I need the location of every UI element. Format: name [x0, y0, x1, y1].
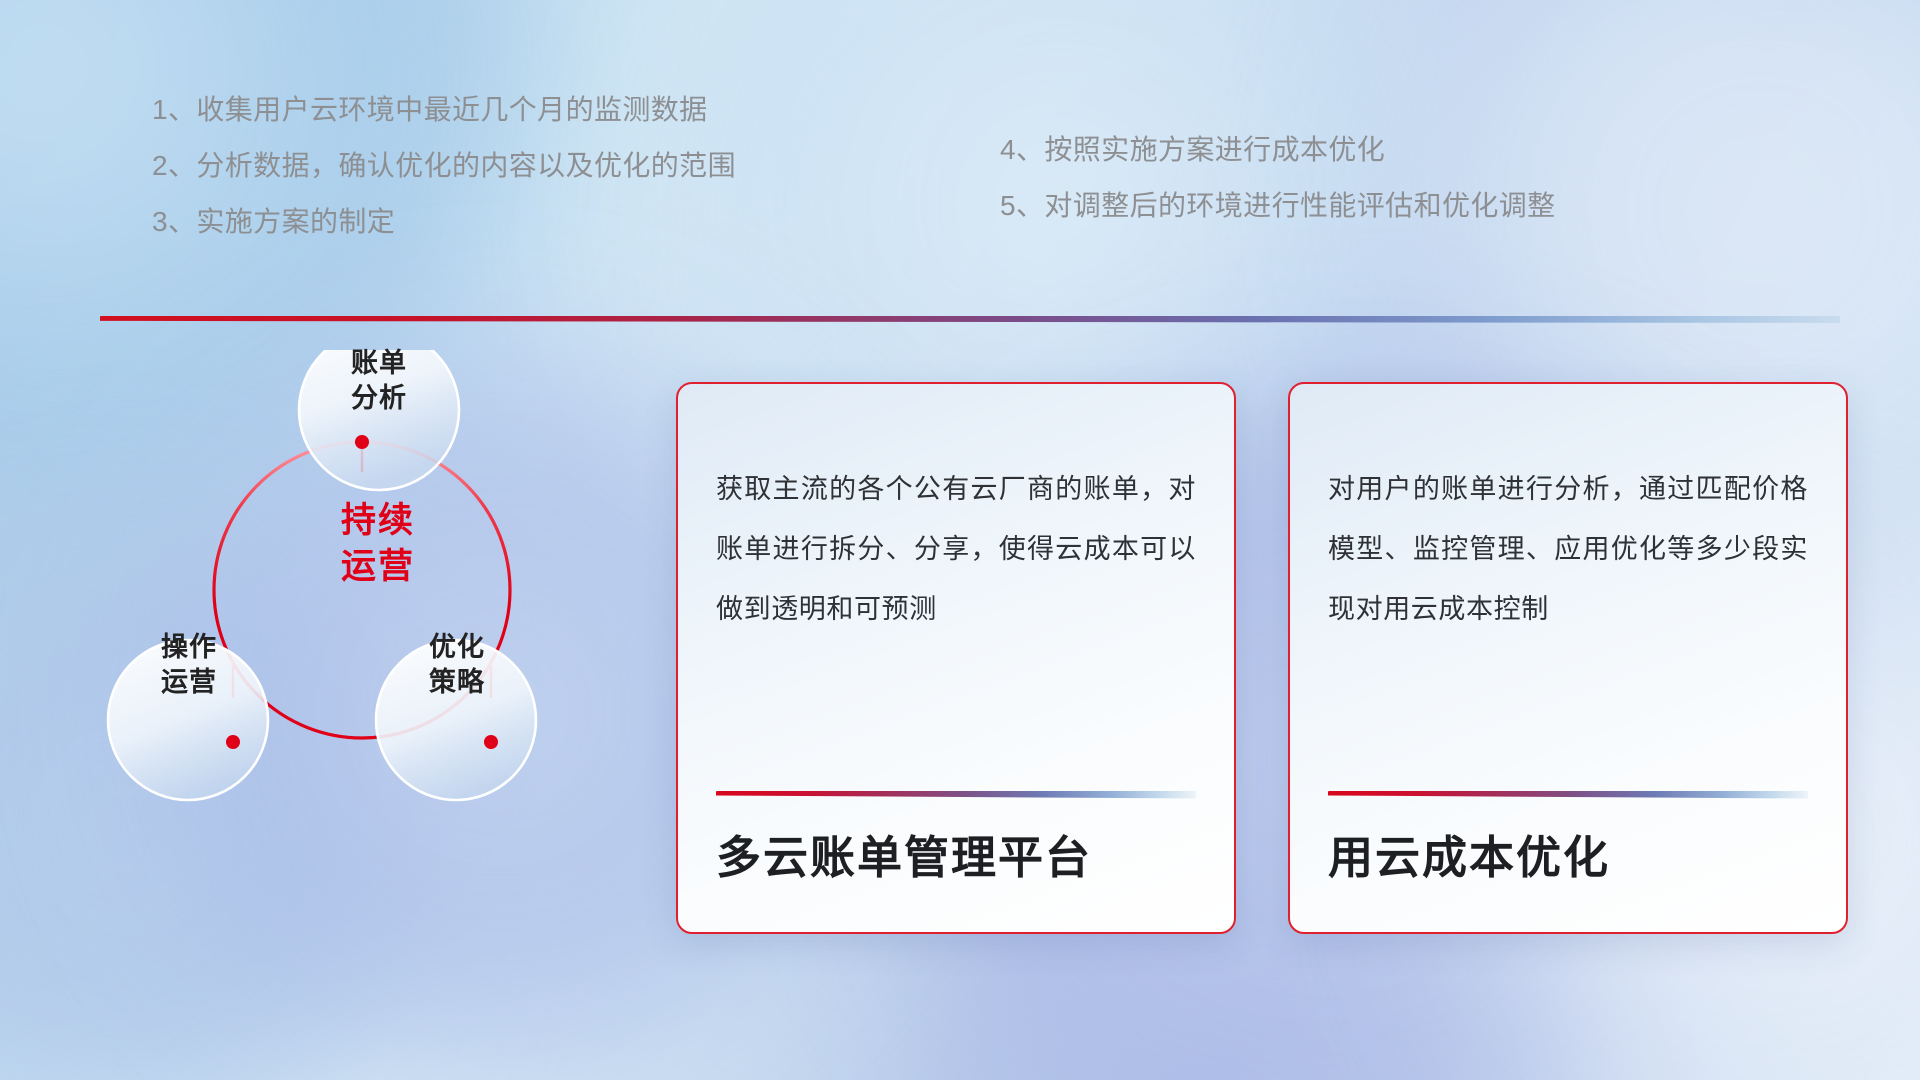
process-step-4: 4、按照实施方案进行成本优化 [1000, 136, 1556, 164]
process-step-1: 1、收集用户云环境中最近几个月的监测数据 [152, 96, 736, 124]
info-card-title: 多云账单管理平台 [716, 833, 1196, 883]
process-step-3: 3、实施方案的制定 [152, 208, 736, 236]
diagram-junction-dot-right [484, 735, 498, 749]
process-steps-right-column: 4、按照实施方案进行成本优化 5、对调整后的环境进行性能评估和优化调整 [1000, 136, 1556, 220]
info-card-body: 获取主流的各个公有云厂商的账单，对账单进行拆分、分享，使得云成本可以做到透明和可… [716, 460, 1196, 640]
info-card-cloud-cost-optimization[interactable]: 对用户的账单进行分析，通过匹配价格模型、监控管理、应用优化等多少段实现对用云成本… [1288, 382, 1848, 934]
process-steps: 1、收集用户云环境中最近几个月的监测数据 2、分析数据，确认优化的内容以及优化的… [0, 96, 1920, 276]
diagram-junction-dot-left [226, 735, 240, 749]
info-card-body: 对用户的账单进行分析，通过匹配价格模型、监控管理、应用优化等多少段实现对用云成本… [1328, 460, 1808, 640]
continuous-operations-diagram: 账单 分析 操作 运营 优化 策略 持续 运营 [96, 350, 616, 950]
info-card-divider [716, 791, 1196, 799]
info-card-multi-cloud-billing-platform[interactable]: 获取主流的各个公有云厂商的账单，对账单进行拆分、分享，使得云成本可以做到透明和可… [676, 382, 1236, 934]
process-step-2: 2、分析数据，确认优化的内容以及优化的范围 [152, 152, 736, 180]
diagram-node-operation-ops [108, 640, 268, 800]
info-card-divider [1328, 791, 1808, 799]
info-card-list: 获取主流的各个公有云厂商的账单，对账单进行拆分、分享，使得云成本可以做到透明和可… [676, 382, 1848, 934]
diagram-junction-dot-top [355, 435, 369, 449]
process-steps-left-column: 1、收集用户云环境中最近几个月的监测数据 2、分析数据，确认优化的内容以及优化的… [152, 96, 736, 236]
info-card-title: 用云成本优化 [1328, 833, 1808, 883]
diagram-node-billing-analysis [299, 350, 459, 490]
diagram-node-optimization-policy [376, 640, 536, 800]
process-step-5: 5、对调整后的环境进行性能评估和优化调整 [1000, 192, 1556, 220]
